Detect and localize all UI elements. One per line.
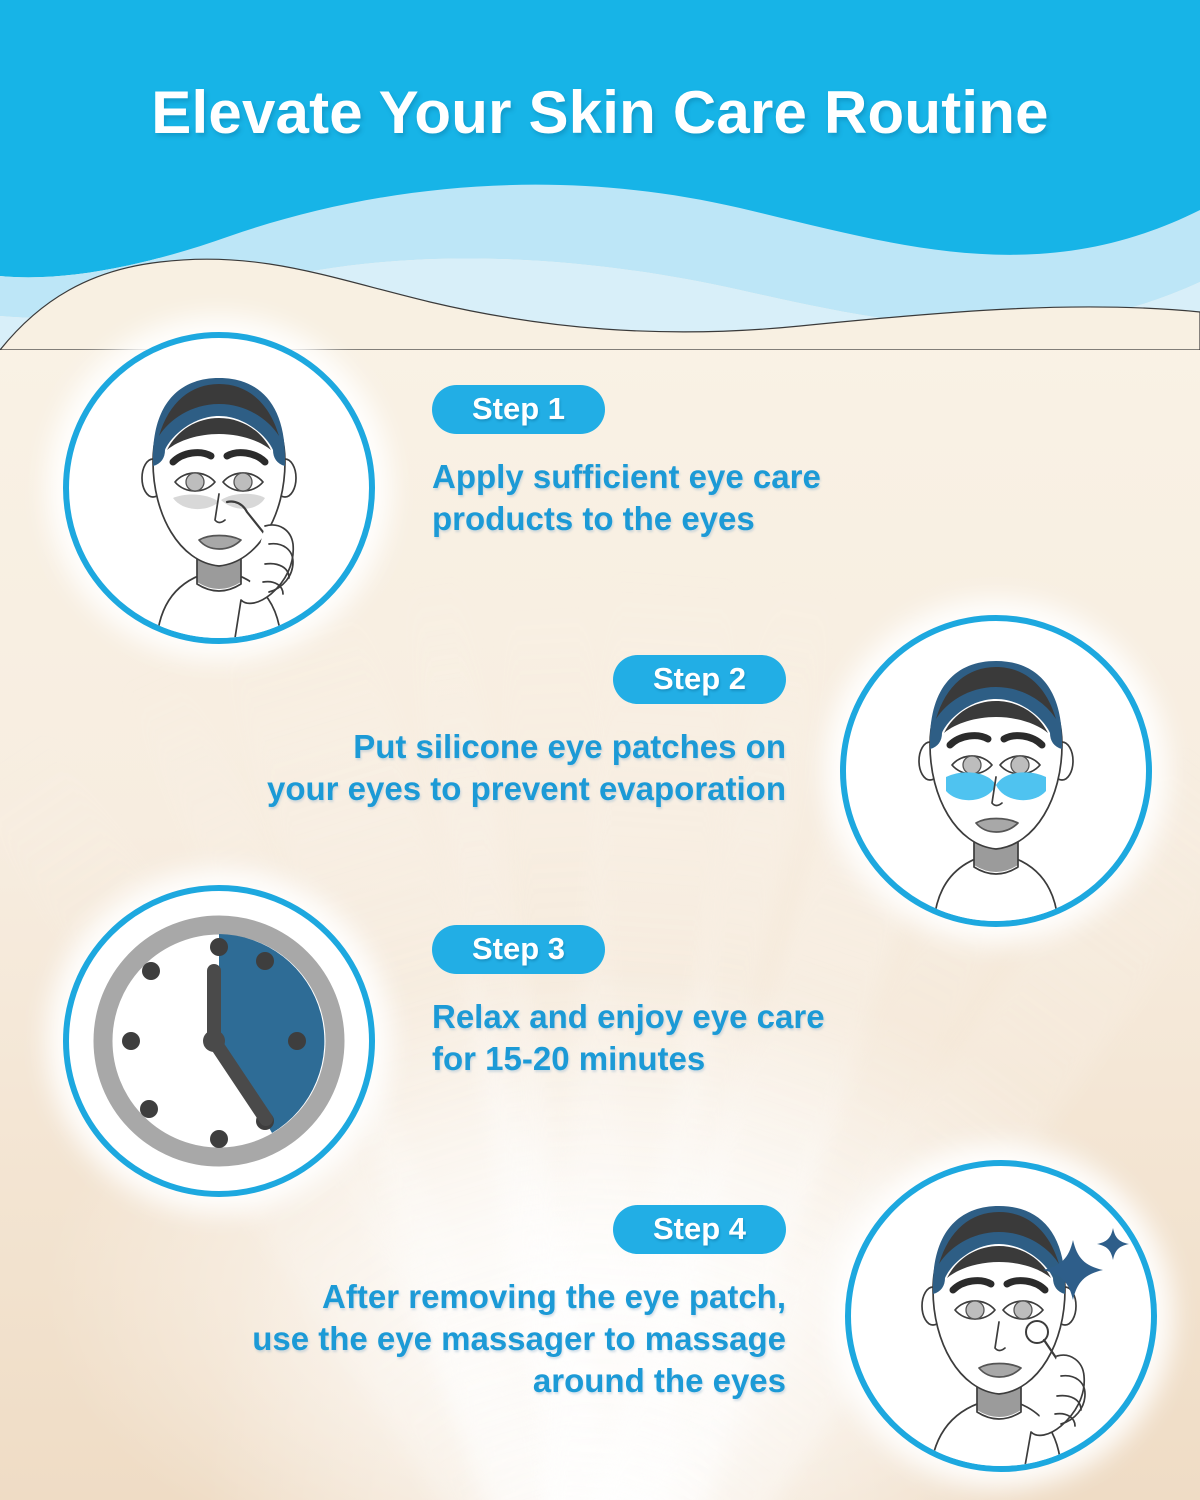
step-1-badge: Step 1 xyxy=(432,385,605,434)
step-4-caption: After removing the eye patch, use the ey… xyxy=(136,1276,786,1403)
step-3-caption: Relax and enjoy eye care for 15-20 minut… xyxy=(432,996,932,1080)
page-title: Elevate Your Skin Care Routine xyxy=(0,78,1200,147)
step-1-content: Step 1 Apply sufficient eye care product… xyxy=(432,385,932,540)
wave-divider xyxy=(0,150,1200,350)
step-3-content: Step 3 Relax and enjoy eye care for 15-2… xyxy=(432,925,932,1080)
step-2-badge: Step 2 xyxy=(613,655,786,704)
step-4-content: Step 4 After removing the eye patch, use… xyxy=(136,1205,786,1403)
woman-using-eye-massager-icon xyxy=(851,1166,1151,1466)
step-3-illustration xyxy=(63,885,375,1197)
woman-wearing-eye-patches-icon xyxy=(846,621,1146,921)
step-2-content: Step 2 Put silicone eye patches on your … xyxy=(136,655,786,810)
step-1-caption: Apply sufficient eye care products to th… xyxy=(432,456,932,540)
step-2-illustration xyxy=(840,615,1152,927)
woman-applying-eye-cream-icon xyxy=(69,338,369,638)
step-2-caption: Put silicone eye patches on your eyes to… xyxy=(136,726,786,810)
step-1-illustration xyxy=(63,332,375,644)
clock-icon xyxy=(69,891,369,1191)
step-4-illustration xyxy=(845,1160,1157,1472)
infographic-page: Elevate Your Skin Care Routine xyxy=(0,0,1200,1500)
step-4-badge: Step 4 xyxy=(613,1205,786,1254)
step-3-badge: Step 3 xyxy=(432,925,605,974)
